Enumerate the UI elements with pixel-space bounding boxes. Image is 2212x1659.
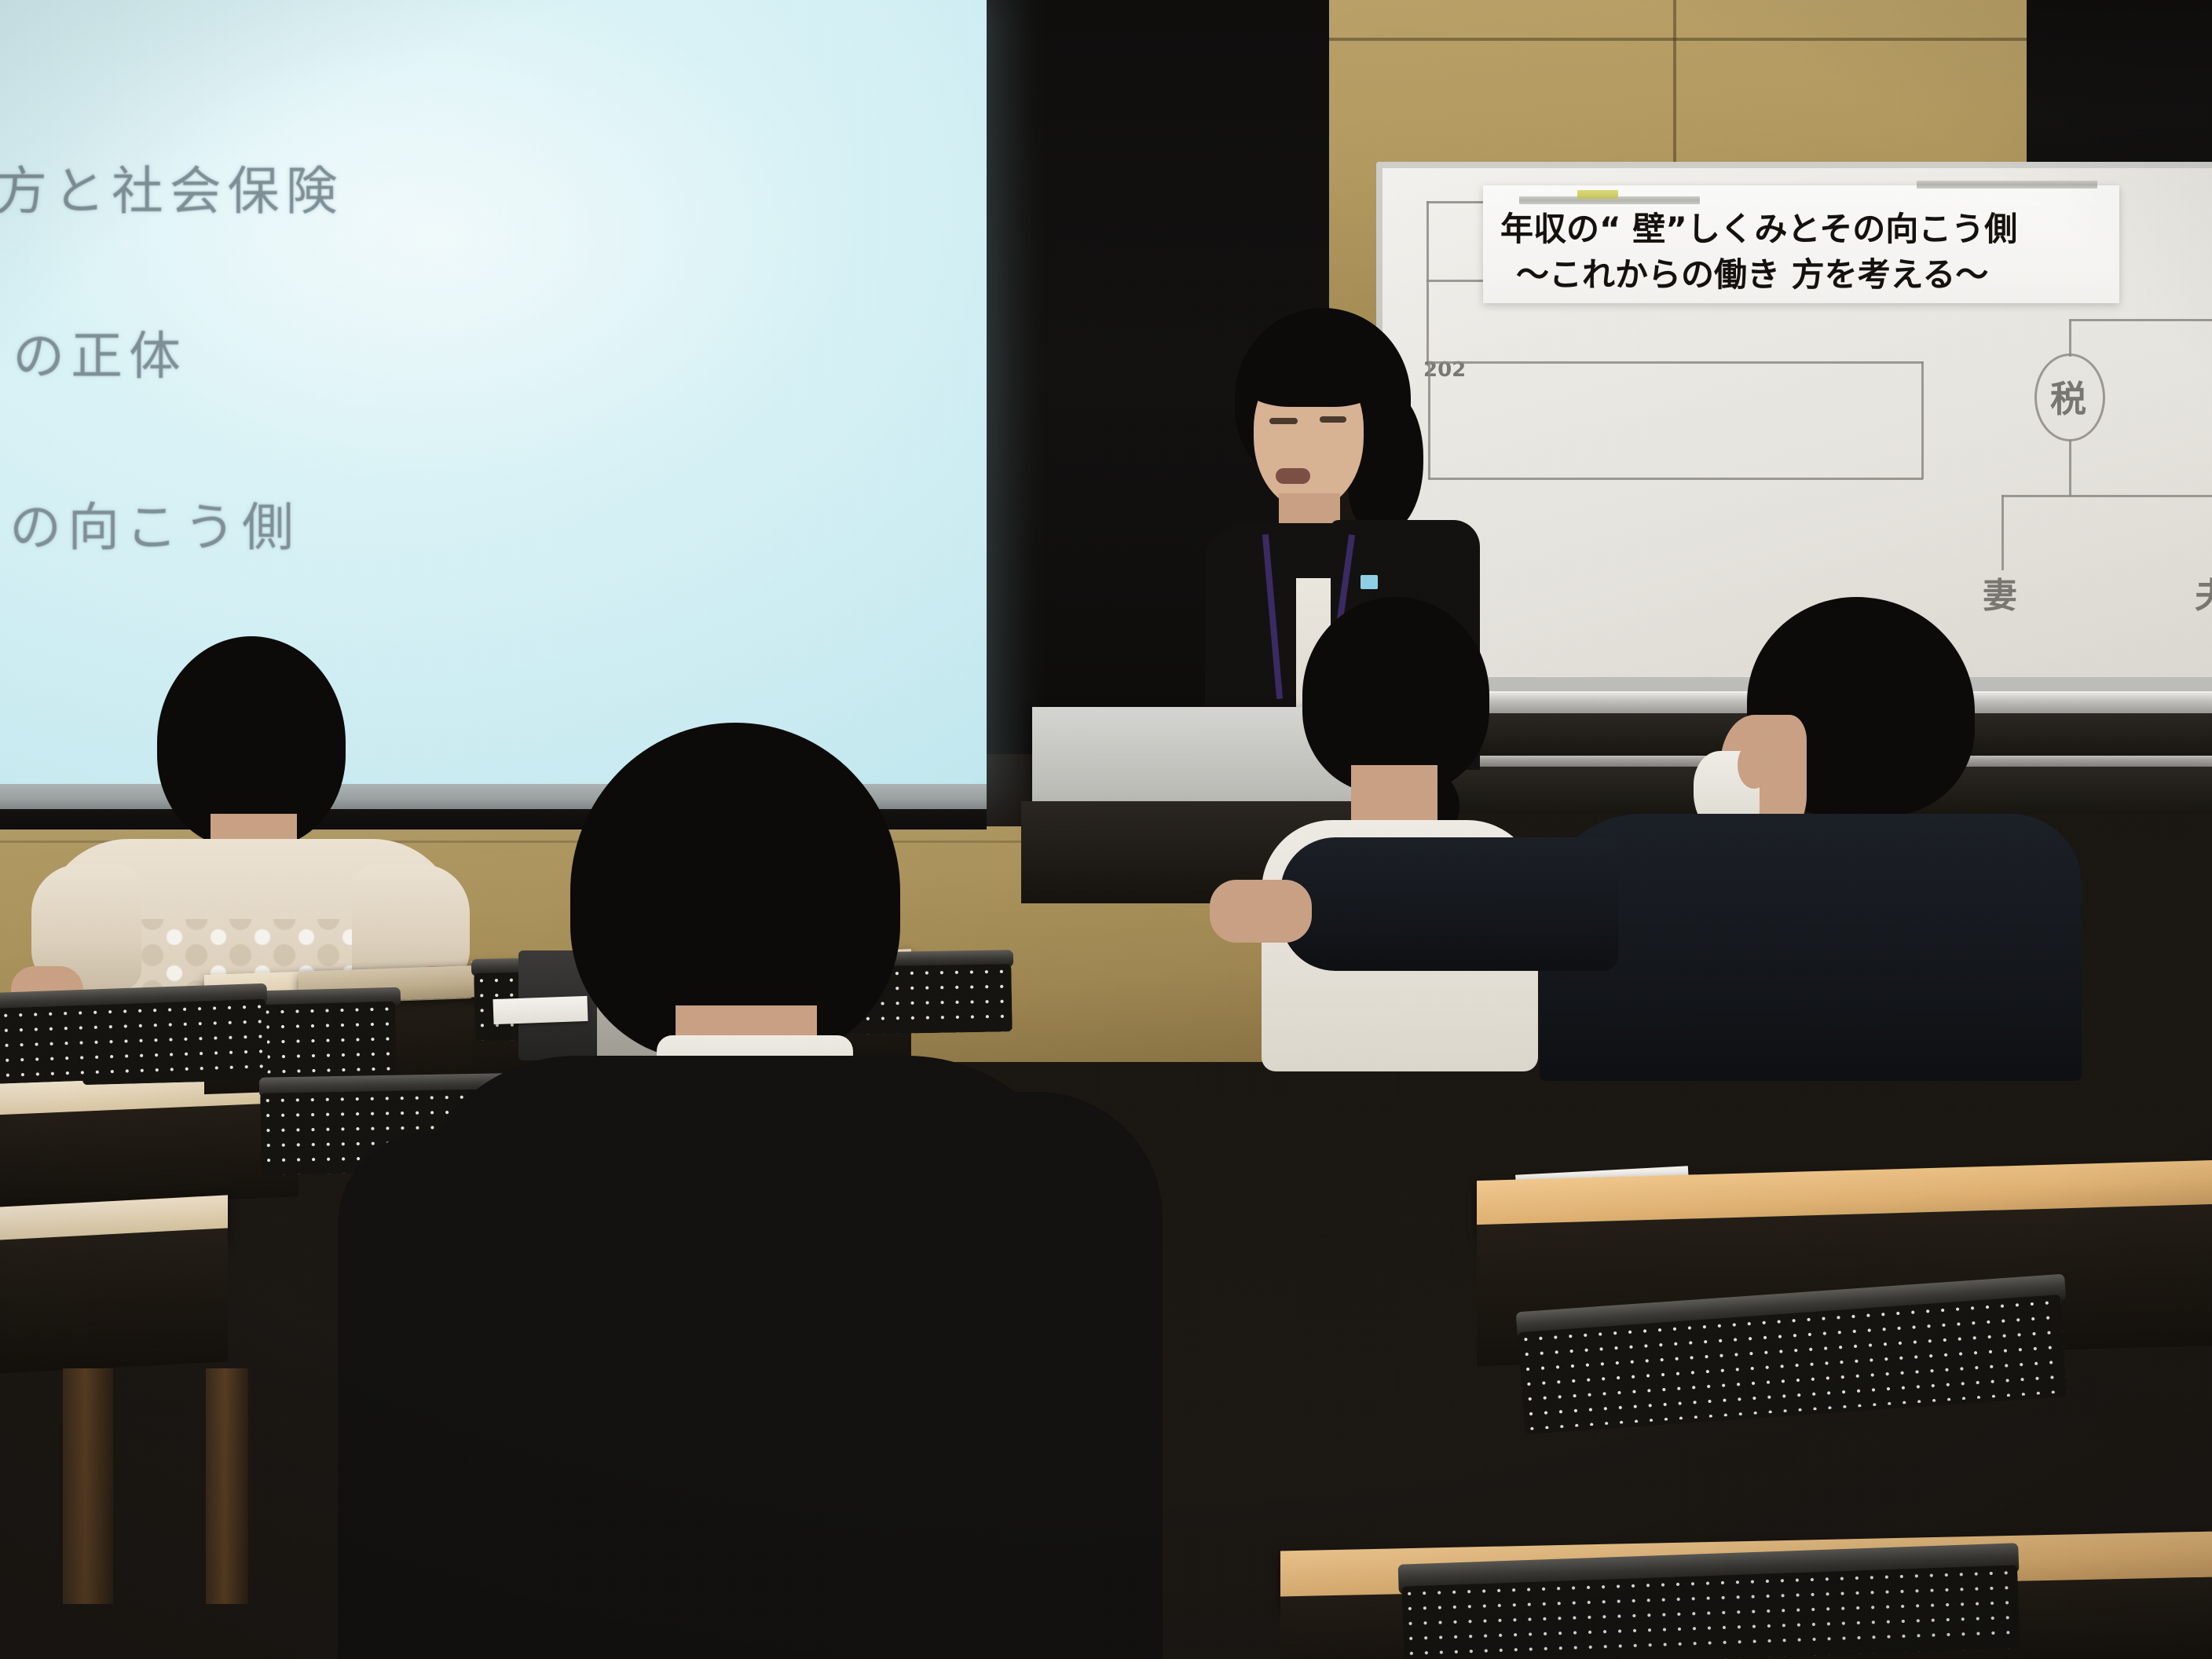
foreground-man-shoulder-left — [338, 1131, 621, 1659]
presenter-fringe — [1243, 341, 1381, 407]
presenter-shoulder — [1210, 523, 1469, 578]
desk-leg-left-1 — [63, 1368, 113, 1604]
whiteboard-node-tax: 税 — [2050, 371, 2086, 423]
presenter-eye-right — [1320, 416, 1346, 423]
slide-line-2: ” の正体 — [0, 314, 187, 390]
attendee-foreground-suit — [440, 723, 1335, 1659]
whiteboard-node-husband: 夫 — [2195, 567, 2212, 617]
presenter-mouth — [1276, 468, 1310, 484]
attendee-right-ear — [1738, 742, 1771, 789]
attendee-right-shirt — [1540, 814, 2082, 1081]
attendee-right-masked — [1540, 597, 2152, 1084]
chair-back-front-left — [0, 999, 269, 1085]
slide-line-3: ” の向こう側 — [0, 485, 300, 561]
seminar-desk-row-a-left-front — [0, 1102, 298, 1210]
presenter-eye-left — [1269, 418, 1298, 424]
whiteboard-title-sign: 年収の“ 壁”しくみとその向こう側 ～これからの働き 方を考える～ — [1483, 185, 2119, 303]
seminar-desk-front-left-front — [0, 1228, 228, 1375]
tape-left-marker — [1577, 190, 1618, 199]
whiteboard-title-line-2: ～これからの働き 方を考える～ — [1516, 248, 1988, 296]
whiteboard-title-line-1: 年収の“ 壁”しくみとその向こう側 — [1500, 203, 2017, 251]
foreground-man-shoulder-right — [848, 1092, 1163, 1659]
desk-leg-left-2 — [206, 1368, 248, 1604]
slide-line-1: 方と社会保険 — [0, 149, 344, 225]
lecture-room-photo: 方と社会保険 ” の正体 ” の向こう側 ） 202 税 妻 夫 — [0, 0, 2212, 1659]
presenter-lapel-pin — [1361, 575, 1378, 589]
tape-right — [1917, 181, 2097, 189]
wall-panel-seam-horizontal — [1304, 38, 2034, 41]
